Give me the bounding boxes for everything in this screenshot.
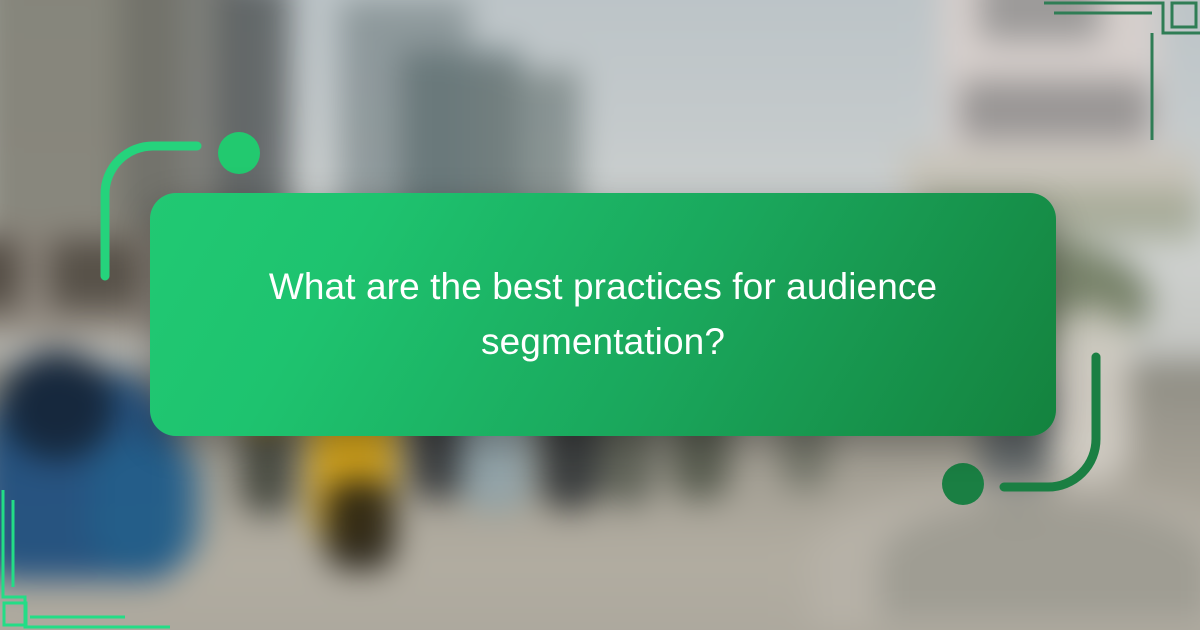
background-building xyxy=(980,0,1100,40)
background-building xyxy=(960,80,1150,140)
question-text: What are the best practices for audience… xyxy=(210,260,996,370)
background-person xyxy=(90,440,200,570)
background-person xyxy=(325,480,395,570)
background-person xyxy=(0,350,115,460)
background-shopfront xyxy=(0,240,20,310)
background-road xyxy=(880,500,1200,620)
background-shopfront xyxy=(50,240,140,310)
background-person xyxy=(1050,310,1130,480)
social-card-canvas: What are the best practices for audience… xyxy=(0,0,1200,630)
question-card: What are the best practices for audience… xyxy=(150,193,1056,436)
